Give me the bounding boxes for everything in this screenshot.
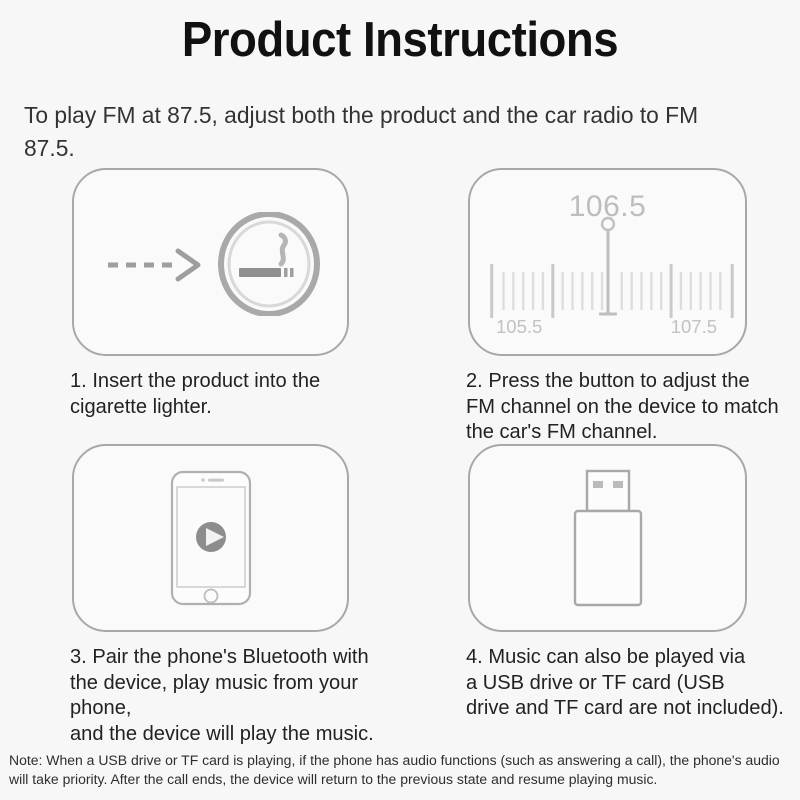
step-3-illustration-panel [72, 444, 349, 632]
step-2: 106.5 [466, 168, 796, 445]
smartphone-icon [170, 470, 252, 606]
step-2-caption: 2. Press the button to adjust the FM cha… [466, 368, 789, 445]
page-title: Product Instructions [28, 12, 772, 68]
play-button-icon [196, 522, 226, 552]
tuner-scale-label-low: 105.5 [496, 316, 542, 338]
intro-paragraph: To play FM at 87.5, adjust both the prod… [24, 99, 753, 165]
step-4: 4. Music can also be played via a USB dr… [466, 444, 796, 721]
footer-note: Note: When a USB drive or TF card is pla… [9, 752, 783, 790]
step-3-caption: 3. Pair the phone's Bluetooth with the d… [70, 644, 393, 746]
dashed-arrow-icon [106, 246, 206, 284]
step-2-illustration-panel: 106.5 [468, 168, 747, 356]
step-4-illustration-panel [468, 444, 747, 632]
instruction-sheet: Product Instructions To play FM at 87.5,… [0, 0, 800, 800]
step-3: 3. Pair the phone's Bluetooth with the d… [70, 444, 400, 746]
cigarette-lighter-socket-icon [217, 212, 321, 316]
steps-row-1: 1. Insert the product into the cigarette… [0, 168, 800, 444]
fm-tuner: 106.5 [470, 170, 745, 354]
tuner-needle-icon[interactable] [470, 212, 745, 330]
step-1-caption: 1. Insert the product into the cigarette… [70, 368, 393, 419]
usb-drive-icon [571, 468, 645, 608]
steps-row-2: 3. Pair the phone's Bluetooth with the d… [0, 444, 800, 720]
step-1: 1. Insert the product into the cigarette… [70, 168, 400, 419]
step-1-illustration-panel [72, 168, 349, 356]
steps-grid: 1. Insert the product into the cigarette… [0, 168, 800, 720]
tuner-scale-label-high: 107.5 [671, 316, 717, 338]
step-4-caption: 4. Music can also be played via a USB dr… [466, 644, 789, 721]
